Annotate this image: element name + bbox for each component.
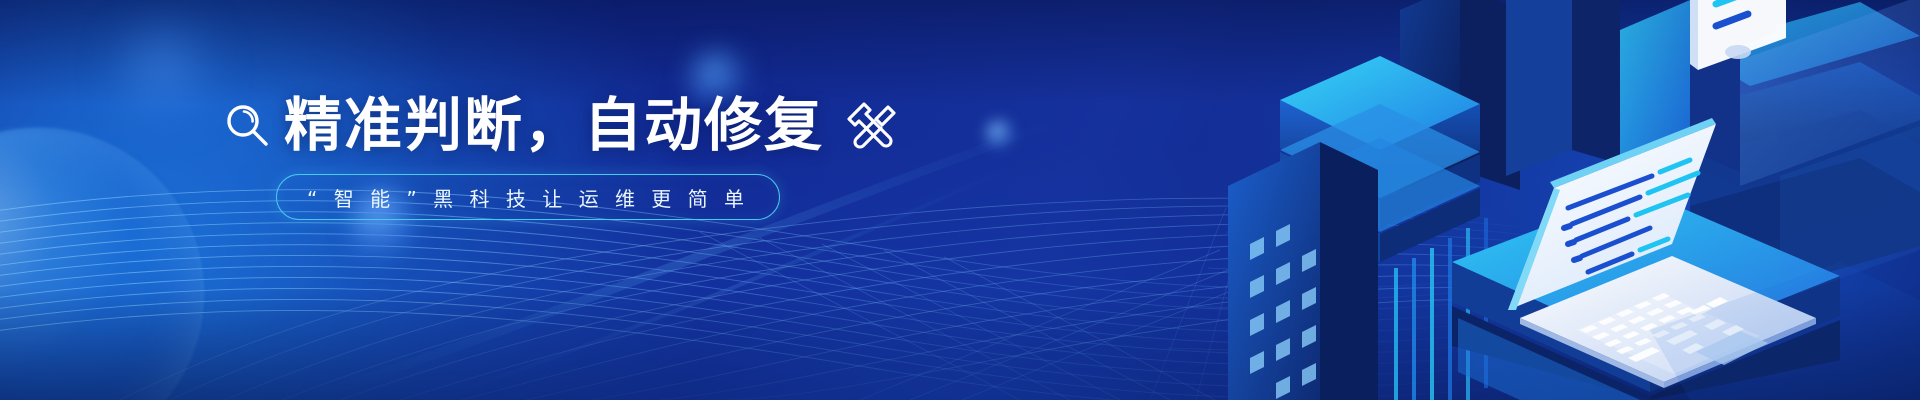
page-title: 精准判断，自动修复 (284, 96, 824, 154)
wrench-screwdriver-icon (844, 97, 900, 153)
banner-content: 精准判断，自动修复 “ 智 能 ” 黑 科 技 让 运 维 更 简 单 (224, 96, 1004, 220)
phone-home-button (1725, 45, 1751, 59)
isometric-datacenter-illustration (1220, 0, 1920, 400)
subtitle-pill: “ 智 能 ” 黑 科 技 让 运 维 更 简 单 (276, 174, 780, 220)
city-building (1228, 142, 1378, 400)
magnifier-icon (224, 102, 270, 148)
headline-row: 精准判断，自动修复 (224, 96, 1004, 154)
promo-banner: 精准判断，自动修复 “ 智 能 ” 黑 科 技 让 运 维 更 简 单 (0, 0, 1920, 400)
